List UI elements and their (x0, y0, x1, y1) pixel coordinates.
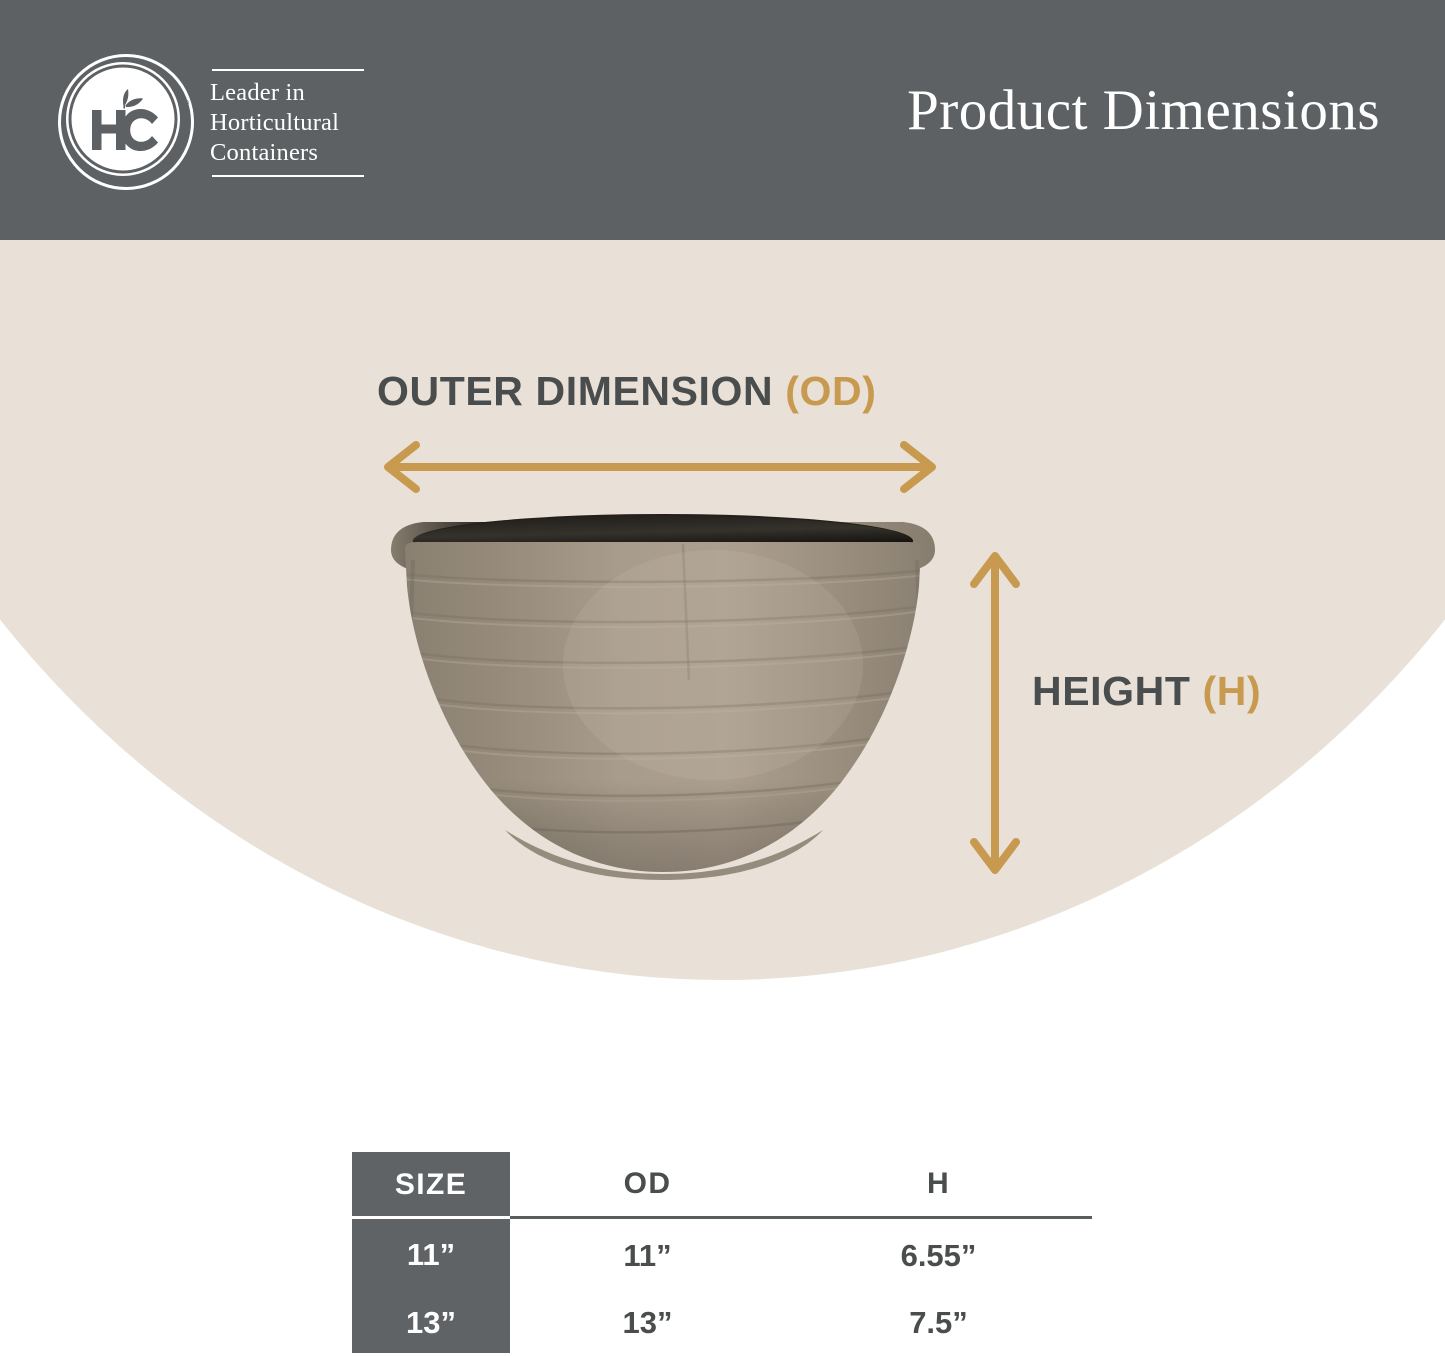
tagline-rule-bottom (212, 175, 364, 177)
specifications-table: SIZE OD H 11” 11” 6.55” 13” 13” 7.5” (352, 1152, 1092, 1356)
outer-dimension-label: OUTER DIMENSION (OD) (377, 368, 876, 415)
registered-trademark-mark: ® (182, 98, 189, 108)
cell-h: 6.55” (785, 1218, 1092, 1290)
outer-dimension-abbr: (OD) (785, 368, 876, 414)
cell-size: 13” (352, 1289, 510, 1356)
cell-od: 11” (510, 1218, 785, 1290)
header-bar: ® Leader in Horticultural Containers Pro… (0, 0, 1445, 240)
cell-od: 13” (510, 1289, 785, 1356)
brand-tagline: Leader in Horticultural Containers (210, 67, 364, 177)
table-row: 13” 13” 7.5” (352, 1289, 1092, 1356)
column-header-size: SIZE (352, 1152, 510, 1218)
brand-logo: ® Leader in Horticultural Containers (58, 48, 398, 196)
dimensions-table: SIZE OD H 11” 11” 6.55” 13” 13” 7.5” (352, 1152, 1092, 1356)
cell-size: 11” (352, 1218, 510, 1290)
tagline-rule-top (212, 69, 364, 71)
outer-dimension-text: OUTER DIMENSION (377, 368, 773, 414)
outer-dimension-arrow-icon (380, 440, 940, 496)
logo-monogram-icon (66, 62, 180, 176)
planter-pot-illustration (383, 500, 943, 885)
table-header-row: SIZE OD H (352, 1152, 1092, 1218)
height-label: HEIGHT (H) (1032, 668, 1261, 715)
page-title: Product Dimensions (907, 78, 1380, 143)
height-text: HEIGHT (1032, 668, 1191, 714)
hc-logo-icon: ® (58, 54, 194, 190)
table-row: 11” 11” 6.55” (352, 1218, 1092, 1290)
column-header-h: H (785, 1152, 1092, 1218)
height-abbr: (H) (1203, 668, 1262, 714)
column-header-od: OD (510, 1152, 785, 1218)
tagline-text: Leader in Horticultural Containers (210, 78, 364, 168)
height-arrow-icon (968, 548, 1024, 878)
cell-h: 7.5” (785, 1289, 1092, 1356)
